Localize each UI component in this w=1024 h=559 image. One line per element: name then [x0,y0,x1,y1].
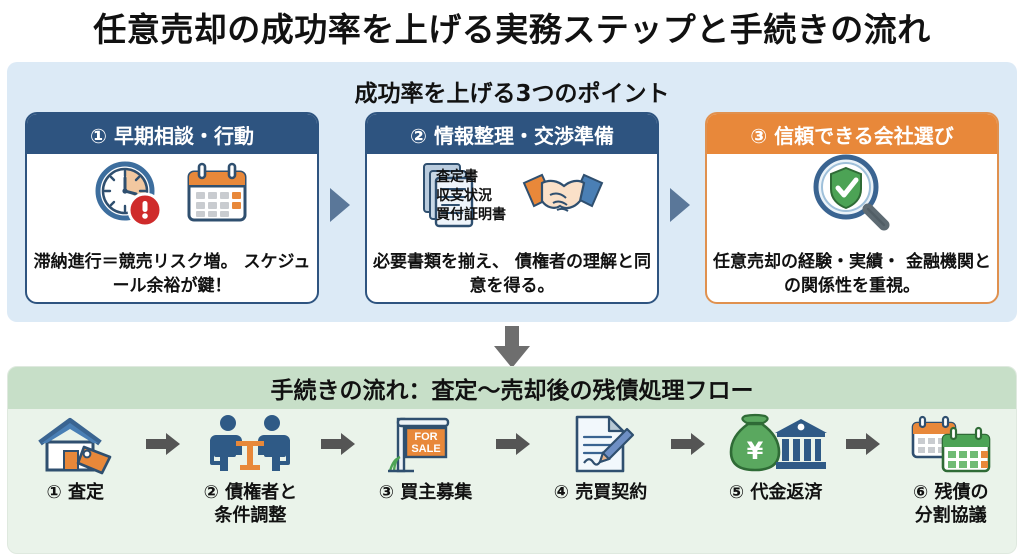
process-step-3: FOR SALE ③ 買主募集 [358,413,493,504]
point-card-3-header: ③ 信頼できる会社選び [707,114,997,154]
money-bag-bank-icon: ¥ [708,413,843,475]
svg-text:¥: ¥ [746,437,763,465]
documents-stack-group: 査定書 収支状況 買付証明書 [418,158,506,234]
negotiation-table-icon [183,413,318,475]
card-arrow-1 [330,188,350,222]
page-title: 任意売却の成功率を上げる実務ステップと手続きの流れ [0,8,1024,52]
document-label-3: 買付証明書 [436,206,506,224]
process-step-1-label: ① 査定 [8,481,143,504]
point-card-2-body: 査定書 収支状況 買付証明書 [367,154,657,304]
point-card-1-header: ① 早期相談・行動 [27,114,317,154]
document-label-list: 査定書 収支状況 買付証明書 [436,168,506,224]
points-card-list: ① 早期相談・行動 [25,112,999,308]
point-card-2-icons: 査定書 収支状況 買付証明書 [367,154,657,238]
process-arrow-5 [843,413,883,475]
process-step-3-label: ③ 買主募集 [358,481,493,504]
handshake-icon [520,161,606,231]
for-sale-sign-icon: FOR SALE [358,413,493,475]
process-step-5-label: ⑤ 代金返済 [708,481,843,504]
infographic-page: 任意売却の成功率を上げる実務ステップと手続きの流れ 成功率を上げる3つのポイント… [0,0,1024,559]
process-panel-heading: 手続きの流れ：査定〜売却後の残債処理フロー [271,371,754,405]
process-step-4: ④ 売買契約 [533,413,668,504]
for-sale-line-2: SALE [412,443,441,455]
point-card-3-body: 任意売却の経験・実績・ 金融機関との関係性を重視。 [707,154,997,304]
process-arrow-1 [143,413,183,475]
point-card-1: ① 早期相談・行動 [25,112,319,304]
process-panel-header: 手続きの流れ：査定〜売却後の残債処理フロー [8,367,1016,409]
points-panel-heading: 成功率を上げる3つのポイント [7,74,1017,108]
clock-alert-icon [91,158,167,234]
process-step-5: ¥ ⑤ 代金返済 [708,413,843,504]
process-step-list: ① 査定 [8,413,1017,553]
point-card-3-caption: 任意売却の経験・実績・ 金融機関との関係性を重視。 [707,250,997,298]
process-step-6: ⑥ 残債の 分割協議 [883,413,1017,527]
point-card-3: ③ 信頼できる会社選び [705,112,999,304]
magnifier-shield-check-icon [806,151,898,241]
point-card-2-caption: 必要書類を揃え、 債権者の理解と同意を得る。 [367,250,657,298]
calendar-icon [181,159,253,233]
process-arrow-2 [318,413,358,475]
document-label-2: 収支状況 [436,187,506,205]
process-step-6-label: ⑥ 残債の 分割協議 [883,481,1017,527]
point-card-3-icons [707,154,997,238]
process-arrow-3 [493,413,533,475]
process-step-2: ② 債権者と 条件調整 [183,413,318,527]
house-price-tag-icon [8,413,143,475]
process-arrow-4 [668,413,708,475]
point-card-1-body: 滞納進行＝競売リスク増。 スケジュール余裕が鍵！ [27,154,317,304]
point-card-2-header: ② 情報整理・交渉準備 [367,114,657,154]
point-card-1-caption: 滞納進行＝競売リスク増。 スケジュール余裕が鍵！ [27,250,317,298]
process-step-4-label: ④ 売買契約 [533,481,668,504]
card-arrow-2 [670,188,690,222]
points-panel: 成功率を上げる3つのポイント ① 早期相談・行動 [7,62,1017,322]
process-step-1: ① 査定 [8,413,143,504]
down-arrow-icon [494,326,530,368]
calendars-icon [883,413,1017,475]
for-sale-line-1: FOR [415,431,438,443]
document-label-1: 査定書 [436,168,506,186]
process-panel: 手続きの流れ：査定〜売却後の残債処理フロー ① 査定 [7,366,1017,554]
point-card-2: ② 情報整理・交渉準備 [365,112,659,304]
contract-pen-icon [533,413,668,475]
process-step-2-label: ② 債権者と 条件調整 [183,481,318,527]
point-card-1-icons [27,154,317,238]
